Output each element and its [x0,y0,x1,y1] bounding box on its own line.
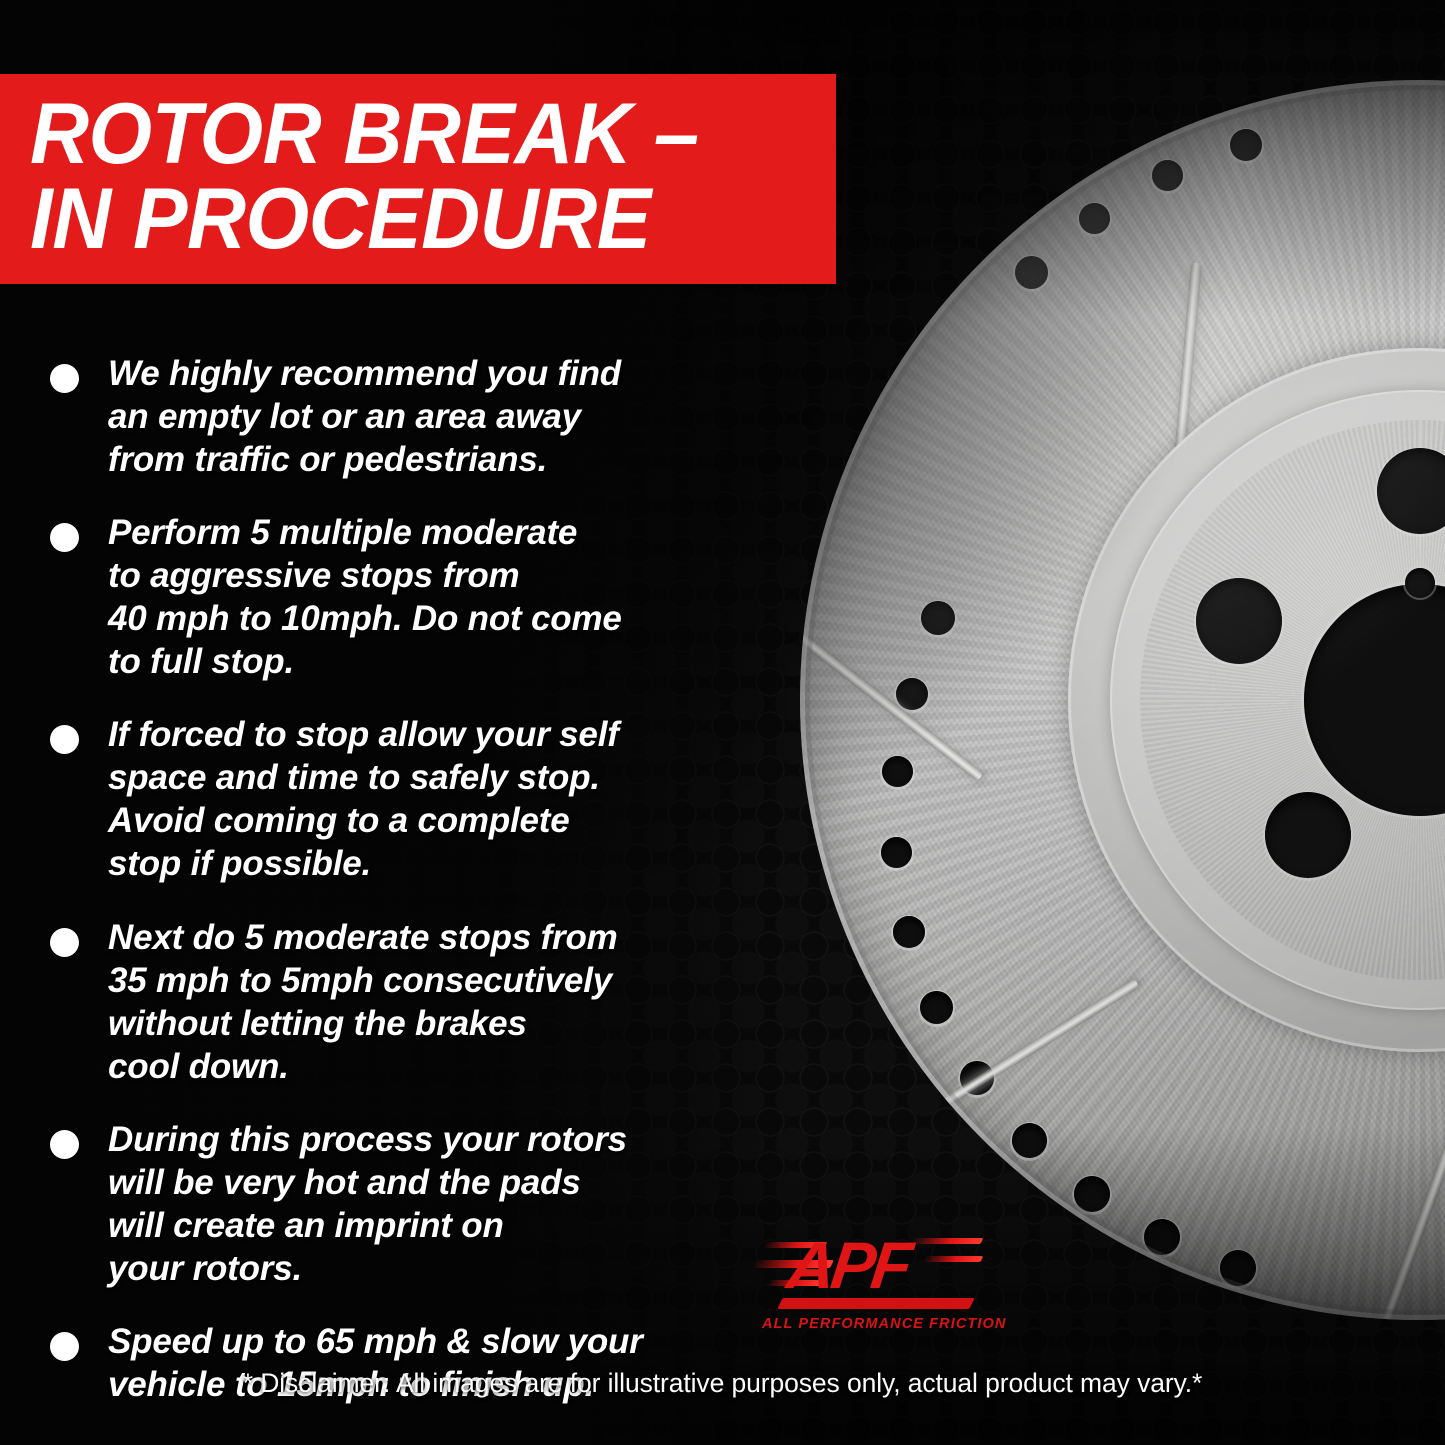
list-item: During this process your rotors will be … [0,1118,790,1290]
apf-logo-underbar [777,1298,974,1309]
list-item-text: Perform 5 multiple moderate to aggressiv… [108,511,790,683]
page-title-line-2: IN PROCEDURE [30,177,796,262]
disclaimer-text: * Disclaimer: All images are for illustr… [0,1368,1445,1399]
list-item: We highly recommend you find an empty lo… [0,352,790,481]
bullet-dot-icon [50,928,79,957]
apf-brand-logo: APF ALL PERFORMANCE FRICTION [762,1232,992,1332]
bullet-dot-icon [50,364,79,393]
list-item-text: Next do 5 moderate stops from 35 mph to … [108,916,790,1088]
bullet-dot-icon [50,725,79,754]
procedure-step-list: We highly recommend you find an empty lo… [0,352,790,1436]
list-item-text: During this process your rotors will be … [108,1118,790,1290]
speed-streak-icon [923,1256,984,1262]
apf-logo-mark: APF [784,1232,912,1298]
bullet-dot-icon [50,523,79,552]
rotor-break-in-infographic: ROTOR BREAK – IN PROCEDURE We highly rec… [0,0,1445,1445]
speed-streak-icon [911,1238,984,1244]
title-banner: ROTOR BREAK – IN PROCEDURE [0,74,836,284]
page-title-line-1: ROTOR BREAK – [30,92,796,177]
bullet-dot-icon [50,1332,79,1361]
list-item: Perform 5 multiple moderate to aggressiv… [0,511,790,683]
bullet-dot-icon [50,1130,79,1159]
list-item: If forced to stop allow your self space … [0,713,790,885]
list-item: Next do 5 moderate stops from 35 mph to … [0,916,790,1088]
list-item-text: If forced to stop allow your self space … [108,713,790,885]
list-item-text: We highly recommend you find an empty lo… [108,352,790,481]
apf-logo-tagline: ALL PERFORMANCE FRICTION [762,1316,992,1332]
